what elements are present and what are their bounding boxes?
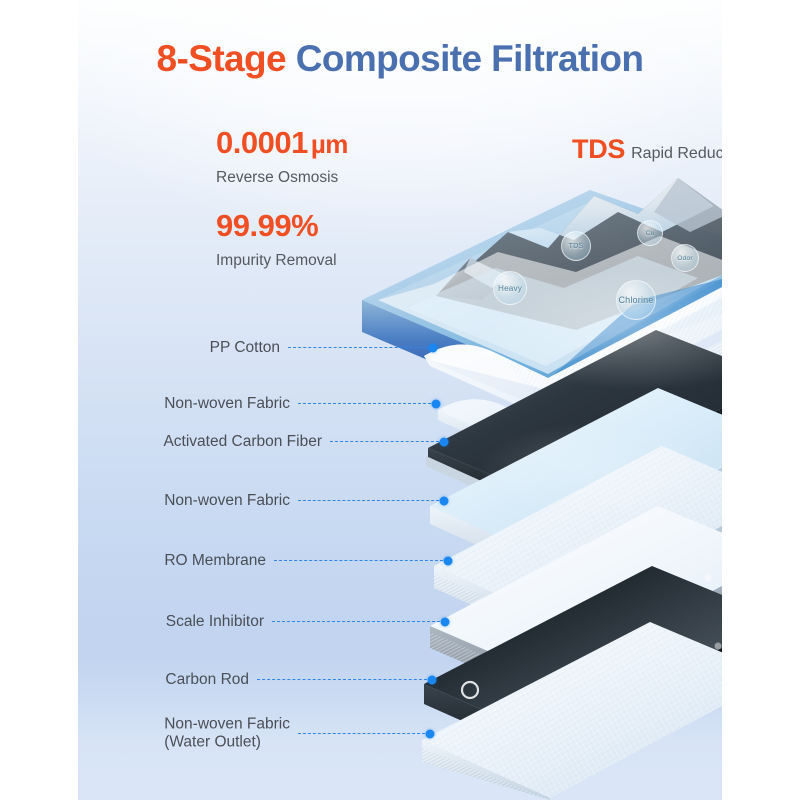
layer-label-text: Activated Carbon Fiber	[163, 433, 322, 451]
leader-line	[298, 403, 436, 404]
layer-label-text: RO Membrane	[164, 552, 266, 570]
layer-label-line1: Scale Inhibitor	[166, 613, 264, 631]
stat-impurity-removal: 99.99% Impurity Removal	[216, 210, 337, 269]
layer-label-text: PP Cotton	[210, 339, 280, 357]
layer-label-text: Non-woven Fabric(Water Outlet)	[164, 716, 290, 753]
page-title: 8-Stage Composite Filtration	[78, 38, 722, 80]
leader-dot	[440, 497, 449, 506]
stat-reverse-osmosis: 0.0001µm Reverse Osmosis	[216, 127, 348, 186]
leader-line	[272, 621, 445, 622]
layer-label-row: Non-woven Fabric(Water Outlet)	[78, 724, 722, 744]
leader-dot	[441, 618, 450, 627]
leader-line	[298, 500, 444, 501]
layer-label-line1: Activated Carbon Fiber	[163, 433, 322, 451]
contaminant-bubble-label: Chlorine	[618, 295, 653, 305]
contaminant-bubble: Chlorine	[616, 280, 656, 320]
layer-label-text: Non-woven Fabric	[164, 395, 290, 413]
layer-label-line1: PP Cotton	[210, 339, 280, 357]
title-accent: 8-Stage	[157, 38, 286, 79]
contaminant-bubble-label: Cu	[646, 230, 655, 237]
tds-key: TDS	[572, 134, 625, 164]
content-panel: 8-Stage Composite Filtration 0.0001µm Re…	[78, 0, 722, 800]
layer-label-text: Carbon Rod	[165, 671, 249, 689]
contaminant-bubble-label: Odor	[677, 255, 693, 262]
layer-label-row: Activated Carbon Fiber	[78, 432, 722, 452]
stat-number: 0.0001	[216, 125, 308, 160]
contaminant-bubble: TDS	[561, 231, 591, 261]
contaminant-bubble: Heavy	[493, 271, 527, 305]
layer-label-row: PP Cotton	[78, 338, 722, 358]
title-main: Composite Filtration	[296, 38, 644, 79]
infographic-canvas: 8-Stage Composite Filtration 0.0001µm Re…	[0, 0, 800, 800]
tds-badge: TDSRapid Reduce	[572, 134, 722, 165]
contaminant-bubble: Cu	[637, 220, 663, 246]
layer-label-row: RO Membrane	[78, 551, 722, 571]
stat-label: Impurity Removal	[216, 252, 337, 269]
layer-label-line1: Non-woven Fabric	[164, 716, 290, 734]
leader-line	[298, 733, 430, 734]
layer-label-line1: RO Membrane	[164, 552, 266, 570]
leader-dot	[444, 557, 453, 566]
leader-line	[274, 560, 448, 561]
contaminant-bubble-label: Heavy	[498, 284, 522, 293]
layer-label-line1: Carbon Rod	[165, 671, 249, 689]
layer-label-line1: Non-woven Fabric	[164, 492, 290, 510]
stat-label: Reverse Osmosis	[216, 169, 348, 186]
leader-dot	[429, 344, 438, 353]
layer-label-line1: Non-woven Fabric	[164, 395, 290, 413]
leader-dot	[432, 400, 441, 409]
layer-label-row: Carbon Rod	[78, 670, 722, 690]
leader-line	[288, 347, 433, 348]
tds-value: Rapid Reduce	[631, 145, 722, 162]
leader-dot	[426, 730, 435, 739]
contaminant-bubble-label: TDS	[569, 242, 584, 250]
contaminant-bubble: Odor	[671, 244, 699, 272]
layer-label-row: Non-woven Fabric	[78, 491, 722, 511]
layer-label-line2: (Water Outlet)	[164, 734, 290, 752]
stat-value: 0.0001µm	[216, 127, 348, 160]
leader-line	[257, 679, 432, 680]
leader-line	[330, 441, 444, 442]
layer-label-text: Scale Inhibitor	[166, 613, 264, 631]
stat-value: 99.99%	[216, 210, 337, 243]
leader-dot	[428, 676, 437, 685]
stat-unit: µm	[311, 129, 348, 159]
leader-dot	[440, 438, 449, 447]
layer-label-row: Scale Inhibitor	[78, 612, 722, 632]
stat-number: 99.99%	[216, 208, 318, 243]
layer-label-text: Non-woven Fabric	[164, 492, 290, 510]
layer-label-row: Non-woven Fabric	[78, 394, 722, 414]
